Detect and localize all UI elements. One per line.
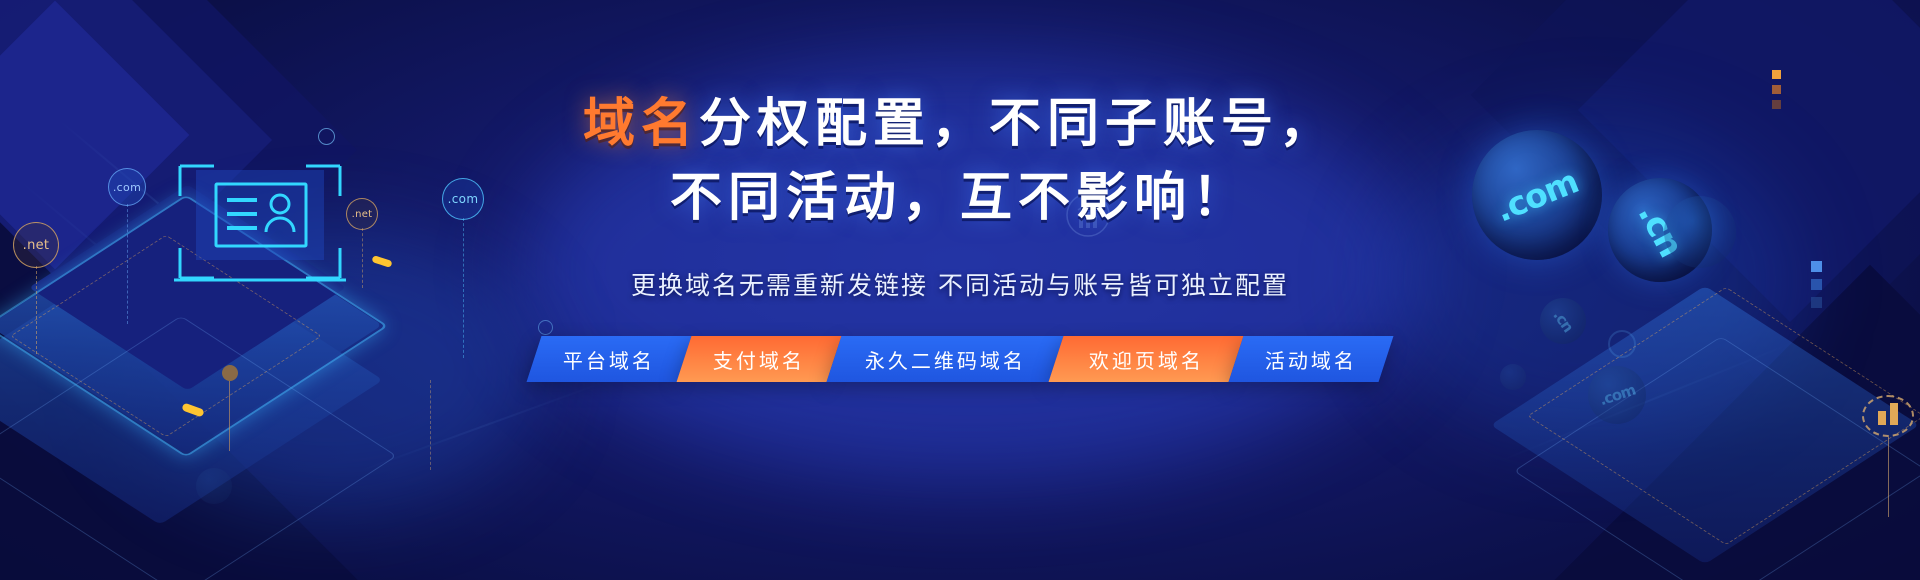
pill-activity-domain[interactable]: 活动域名 (1229, 336, 1394, 382)
headline-line-1: 域名分权配置，不同子账号， (583, 88, 1337, 162)
pill-payment-domain-label: 支付域名 (713, 344, 805, 373)
headline-accent-text: 域名 (583, 94, 699, 154)
headline: 域名分权配置，不同子账号， 不同活动，互不影响！ (583, 88, 1337, 236)
pill-permanent-qr-domain-label: 永久二维码域名 (865, 344, 1026, 373)
domain-type-pill-list: 平台域名 支付域名 永久二维码域名 欢迎页域名 活动域名 (534, 336, 1386, 382)
pill-welcome-page-domain[interactable]: 欢迎页域名 (1049, 336, 1244, 382)
headline-line-1-rest: 分权配置，不同子账号， (699, 94, 1337, 154)
pill-activity-domain-label: 活动域名 (1265, 344, 1357, 373)
promo-banner: .com .net .net .com (0, 0, 1920, 580)
pill-payment-domain[interactable]: 支付域名 (677, 336, 842, 382)
banner-content: 域名分权配置，不同子账号， 不同活动，互不影响！ 更换域名无需重新发链接 不同活… (0, 0, 1920, 580)
headline-line-2: 不同活动，互不影响！ (583, 162, 1337, 236)
pill-welcome-page-domain-label: 欢迎页域名 (1089, 344, 1204, 373)
pill-platform-domain[interactable]: 平台域名 (527, 336, 692, 382)
pill-platform-domain-label: 平台域名 (563, 344, 655, 373)
subtitle: 更换域名无需重新发链接 不同活动与账号皆可独立配置 (631, 266, 1289, 302)
pill-permanent-qr-domain[interactable]: 永久二维码域名 (827, 336, 1064, 382)
